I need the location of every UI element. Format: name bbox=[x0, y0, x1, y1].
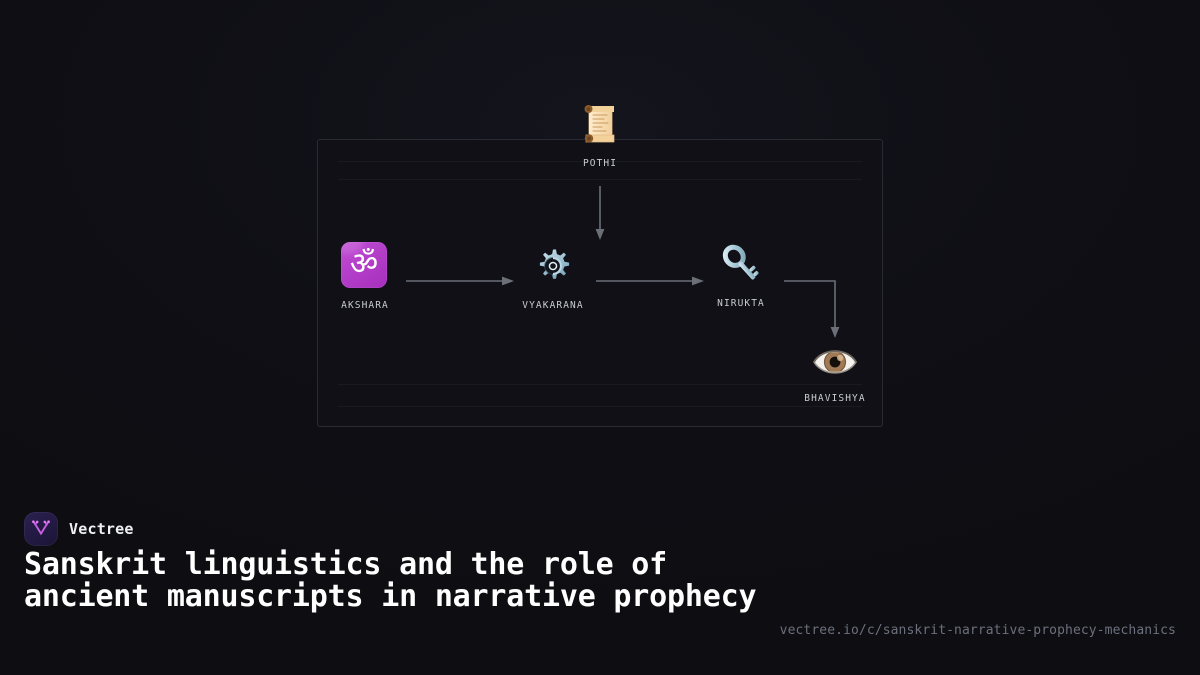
gear-icon bbox=[529, 242, 577, 290]
om-glyph: ॐ bbox=[350, 249, 378, 280]
footer-url: vectree.io/c/sanskrit-narrative-prophecy… bbox=[780, 623, 1176, 638]
node-nirukta[interactable]: NIRUKTA bbox=[681, 240, 801, 309]
scroll-icon bbox=[576, 100, 624, 148]
key-icon bbox=[717, 240, 765, 288]
node-label-akshara: AKSHARA bbox=[341, 300, 389, 311]
node-label-vyakarana: VYAKARANA bbox=[522, 300, 583, 311]
vectree-logo-icon bbox=[24, 512, 58, 546]
node-label-pothi: POTHI bbox=[583, 158, 617, 169]
node-bhavishya[interactable]: BHAVISHYA bbox=[775, 341, 895, 404]
node-vyakarana[interactable]: VYAKARANA bbox=[493, 242, 613, 311]
edge-pothi-to-vyakarana bbox=[592, 186, 608, 244]
node-label-bhavishya: BHAVISHYA bbox=[804, 393, 865, 404]
eye-icon bbox=[811, 341, 859, 383]
brand-name: Vectree bbox=[69, 520, 134, 538]
node-akshara[interactable]: ॐ AKSHARA bbox=[305, 242, 425, 311]
node-pothi[interactable]: POTHI bbox=[540, 100, 660, 169]
brand: Vectree bbox=[24, 512, 134, 546]
panel-gridline bbox=[338, 179, 862, 180]
screenshot-root: POTHI ॐ AKSHARA bbox=[0, 0, 1200, 675]
page-title: Sanskrit linguistics and the role of anc… bbox=[24, 549, 784, 613]
om-icon: ॐ bbox=[341, 242, 389, 290]
node-label-nirukta: NIRUKTA bbox=[717, 298, 765, 309]
panel-gridline bbox=[338, 406, 862, 407]
